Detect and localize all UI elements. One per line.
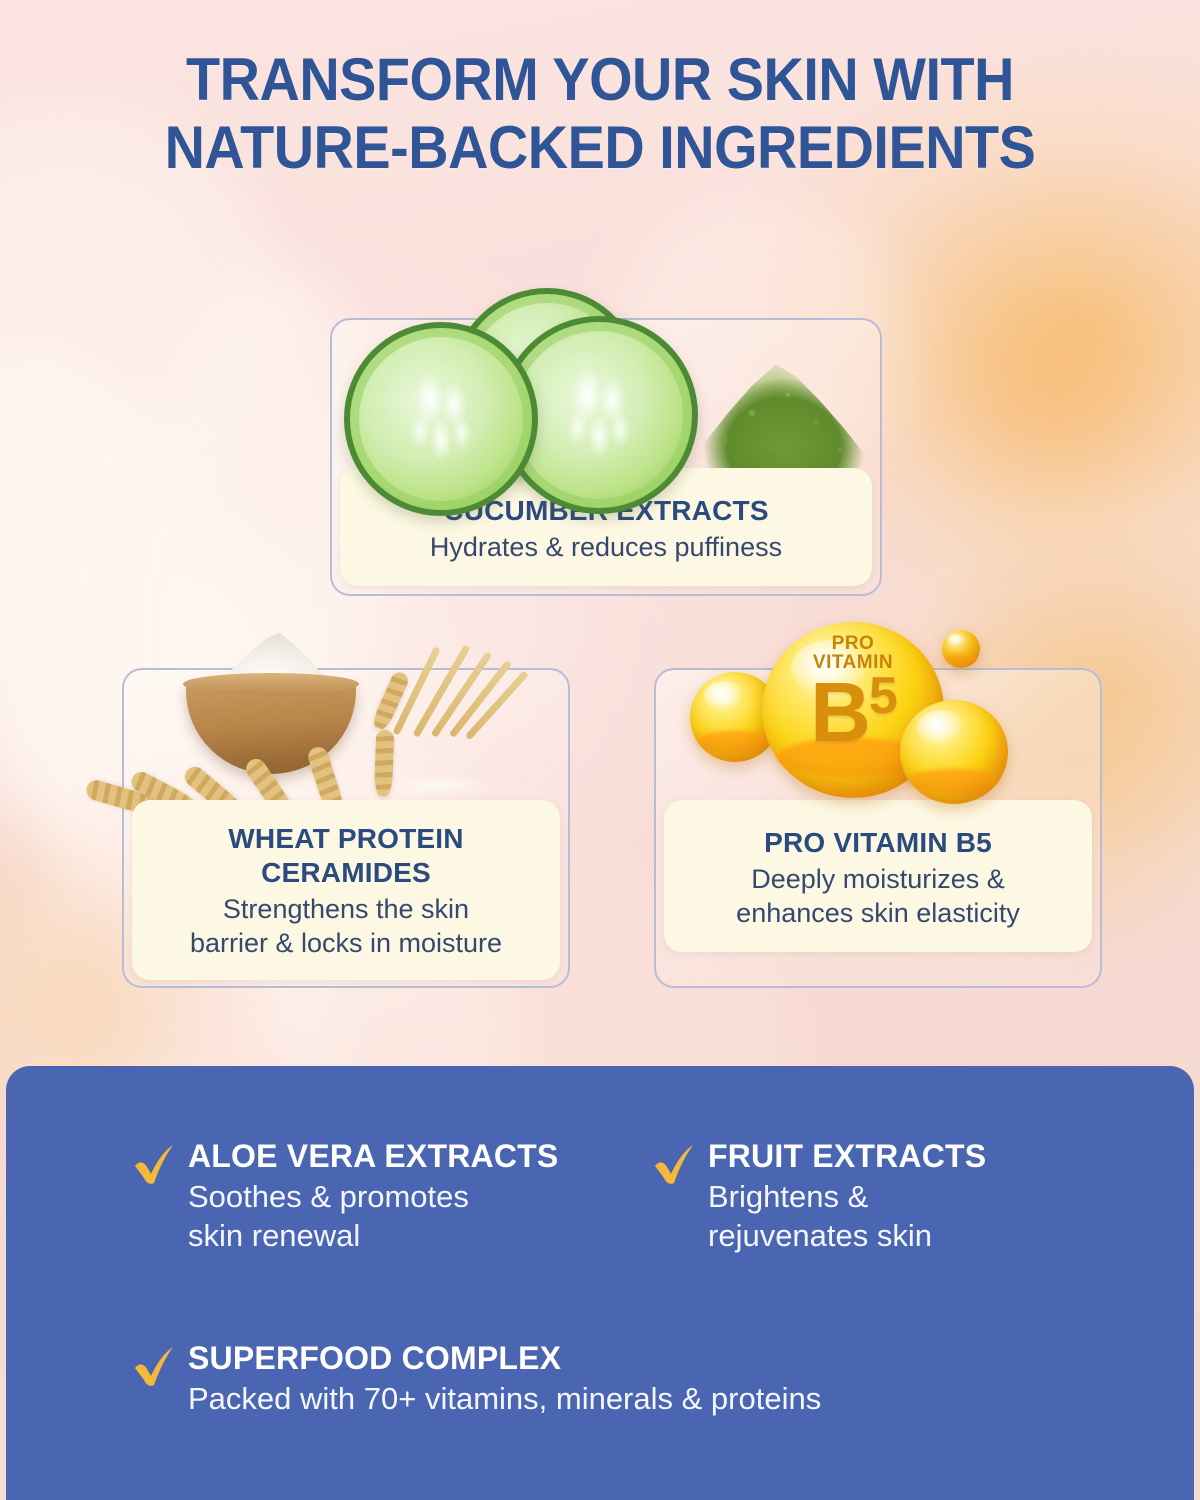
ingredient-card-pro-vitamin-b5: PRO VITAMIN B5 PRO VITAMIN B5 Deeply moi… [654, 668, 1102, 988]
b5-caption: PRO VITAMIN B5 Deeply moisturizes & enha… [664, 800, 1092, 952]
benefit-aloe-description: Soothes & promotes skin renewal [188, 1177, 558, 1256]
benefits-panel [6, 1066, 1194, 1500]
benefit-item-fruit-extracts: FRUIT EXTRACTS Brightens & rejuvenates s… [652, 1138, 1092, 1256]
benefit-superfood-text: SUPERFOOD COMPLEX Packed with 70+ vitami… [188, 1340, 821, 1418]
oil-droplet-icon [900, 700, 1008, 804]
benefit-aloe-text: ALOE VERA EXTRACTS Soothes & promotes sk… [188, 1138, 558, 1256]
ingredient-card-wheat-protein: WHEAT PROTEIN CERAMIDES Strengthens the … [122, 668, 570, 988]
cucumber-slice-icon [344, 322, 538, 516]
benefit-superfood-title: SUPERFOOD COMPLEX [188, 1340, 821, 1377]
wheat-title: WHEAT PROTEIN CERAMIDES [144, 822, 548, 890]
benefit-fruit-title: FRUIT EXTRACTS [708, 1138, 986, 1175]
b5-description: Deeply moisturizes & enhances skin elast… [676, 862, 1080, 930]
benefit-superfood-description: Packed with 70+ vitamins, minerals & pro… [188, 1379, 821, 1418]
checkmark-icon [132, 1142, 176, 1188]
wheat-artwork [124, 622, 572, 812]
b5-title: PRO VITAMIN B5 [676, 826, 1080, 860]
cucumber-description: Hydrates & reduces puffiness [354, 530, 858, 564]
benefit-fruit-description: Brightens & rejuvenates skin [708, 1177, 986, 1256]
oil-droplet-icon [942, 630, 980, 668]
background-warm-glow [840, 180, 1200, 600]
wooden-bowl-icon [186, 682, 356, 774]
benefit-item-aloe-vera: ALOE VERA EXTRACTS Soothes & promotes sk… [132, 1138, 602, 1256]
page-headline: TRANSFORM YOUR SKIN WITH NATURE-BACKED I… [42, 46, 1158, 182]
benefit-fruit-text: FRUIT EXTRACTS Brightens & rejuvenates s… [708, 1138, 986, 1256]
infographic-stage: TRANSFORM YOUR SKIN WITH NATURE-BACKED I… [0, 0, 1200, 1500]
cucumber-artwork [332, 282, 884, 482]
checkmark-icon [652, 1142, 696, 1188]
checkmark-icon [132, 1344, 176, 1390]
green-powder-pile-icon [684, 334, 884, 486]
ingredient-card-cucumber: CUCUMBER EXTRACTS Hydrates & reduces puf… [330, 318, 882, 596]
b5-artwork: PRO VITAMIN B5 [656, 616, 1104, 816]
benefit-aloe-title: ALOE VERA EXTRACTS [188, 1138, 558, 1175]
wheat-caption: WHEAT PROTEIN CERAMIDES Strengthens the … [132, 800, 560, 980]
wheat-description: Strengthens the skin barrier & locks in … [144, 892, 548, 960]
benefit-item-superfood-complex: SUPERFOOD COMPLEX Packed with 70+ vitami… [132, 1340, 1092, 1418]
